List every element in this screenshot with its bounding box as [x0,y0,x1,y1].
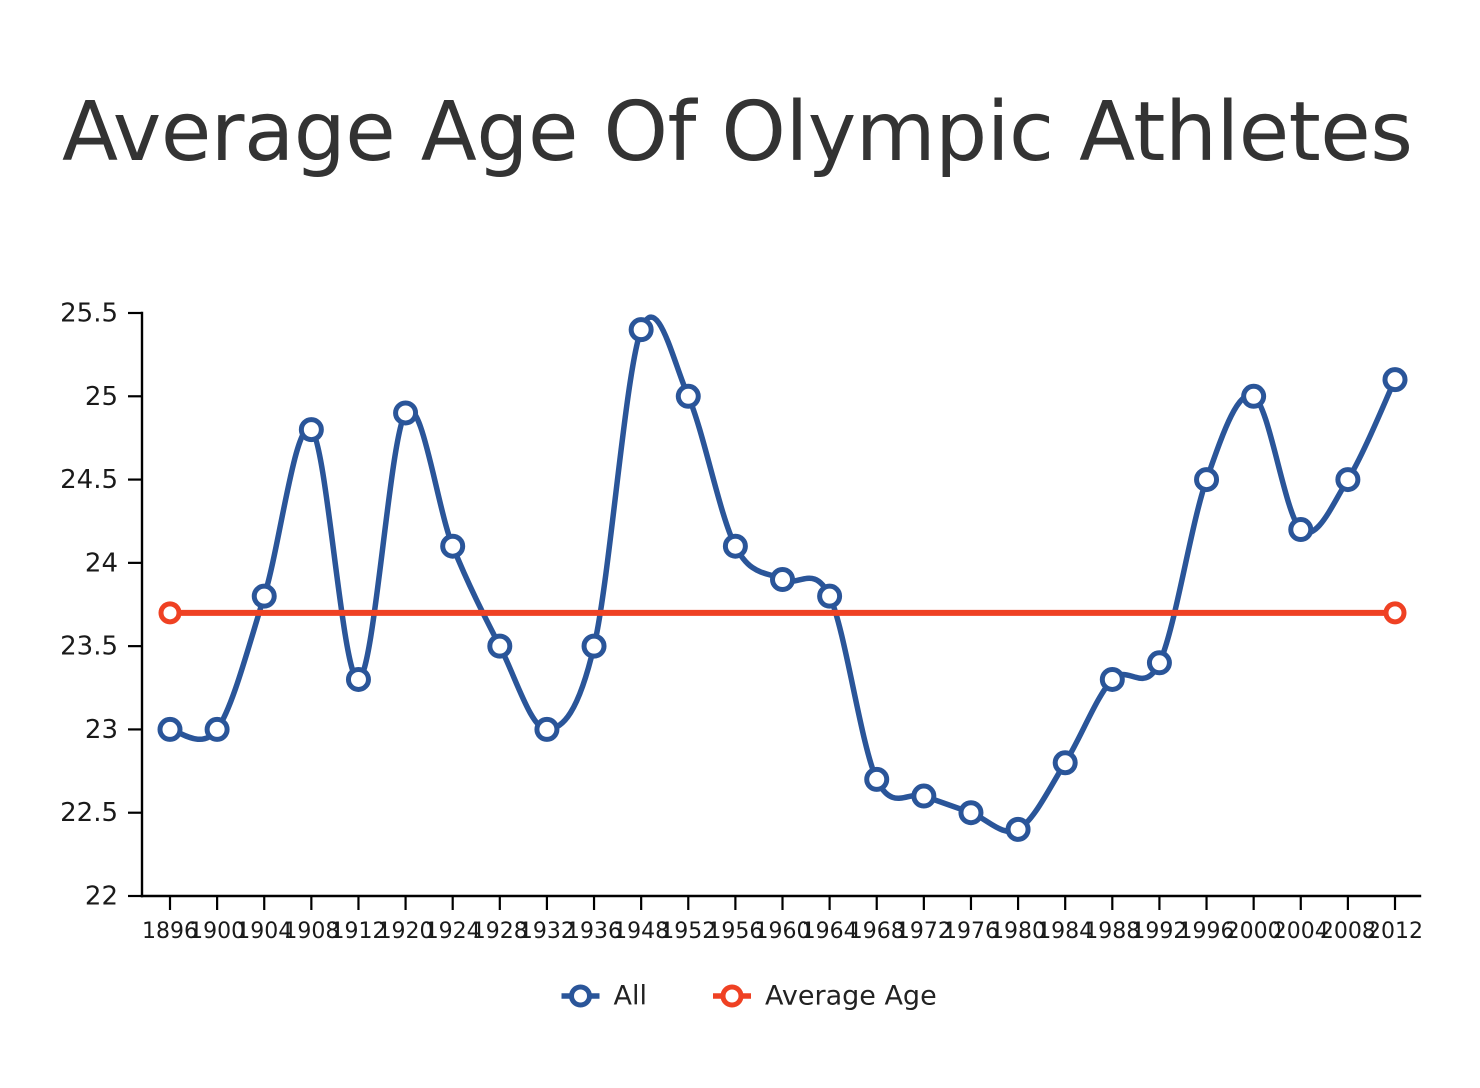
chart-page: Average Age Of Olympic Athletes 2222.523… [0,0,1480,1088]
data-point-marker[interactable] [1055,753,1075,773]
data-point-marker[interactable] [396,403,416,423]
data-point-marker[interactable] [537,719,557,739]
data-point-marker[interactable] [1386,604,1404,622]
data-point-marker[interactable] [348,669,368,689]
data-point-marker[interactable] [1244,386,1264,406]
line-chart: 2222.52323.52424.52525.5 189619001904190… [0,0,1480,1088]
legend-marker-ring-icon [572,987,590,1005]
y-tick-label: 24 [85,548,118,578]
y-tick-label: 23.5 [60,632,118,662]
data-point-marker[interactable] [725,536,745,556]
data-point-marker[interactable] [961,803,981,823]
data-point-marker[interactable] [160,719,180,739]
x-axis: 1896190019041908191219201924192819321936… [142,896,1423,944]
data-point-marker[interactable] [584,636,604,656]
legend-item-all[interactable]: All [562,981,647,1012]
y-tick-label: 22.5 [60,798,118,828]
data-point-marker[interactable] [820,586,840,606]
x-tick-label: 2012 [1367,919,1423,944]
data-point-marker[interactable] [161,604,179,622]
chart-plot-area: 2222.52323.52424.52525.5 189619001904190… [0,0,1480,1088]
y-tick-label: 25 [85,382,118,412]
chart-legend: AllAverage Age [562,981,937,1012]
data-point-marker[interactable] [867,769,887,789]
data-point-marker[interactable] [1291,520,1311,540]
data-point-marker[interactable] [490,636,510,656]
data-point-marker[interactable] [443,536,463,556]
data-point-marker[interactable] [1197,470,1217,490]
data-point-marker[interactable] [1385,370,1405,390]
legend-label: All [614,981,647,1012]
data-point-marker[interactable] [773,570,793,590]
y-tick-label: 25.5 [60,299,118,329]
legend-item-average-age[interactable]: Average Age [713,981,937,1012]
data-point-marker[interactable] [1102,669,1122,689]
y-tick-label: 23 [85,715,118,745]
data-markers-group [160,320,1405,840]
data-point-marker[interactable] [678,386,698,406]
legend-marker-ring-icon [723,987,741,1005]
data-point-marker[interactable] [254,586,274,606]
data-point-marker[interactable] [914,786,934,806]
data-point-marker[interactable] [1008,819,1028,839]
y-axis: 2222.52323.52424.52525.5 [60,299,142,912]
data-point-marker[interactable] [207,719,227,739]
data-point-marker[interactable] [631,320,651,340]
data-point-marker[interactable] [1338,470,1358,490]
data-point-marker[interactable] [1149,653,1169,673]
y-tick-label: 24.5 [60,465,118,495]
y-tick-label: 22 [85,882,118,912]
data-point-marker[interactable] [301,420,321,440]
legend-label: Average Age [765,981,937,1012]
